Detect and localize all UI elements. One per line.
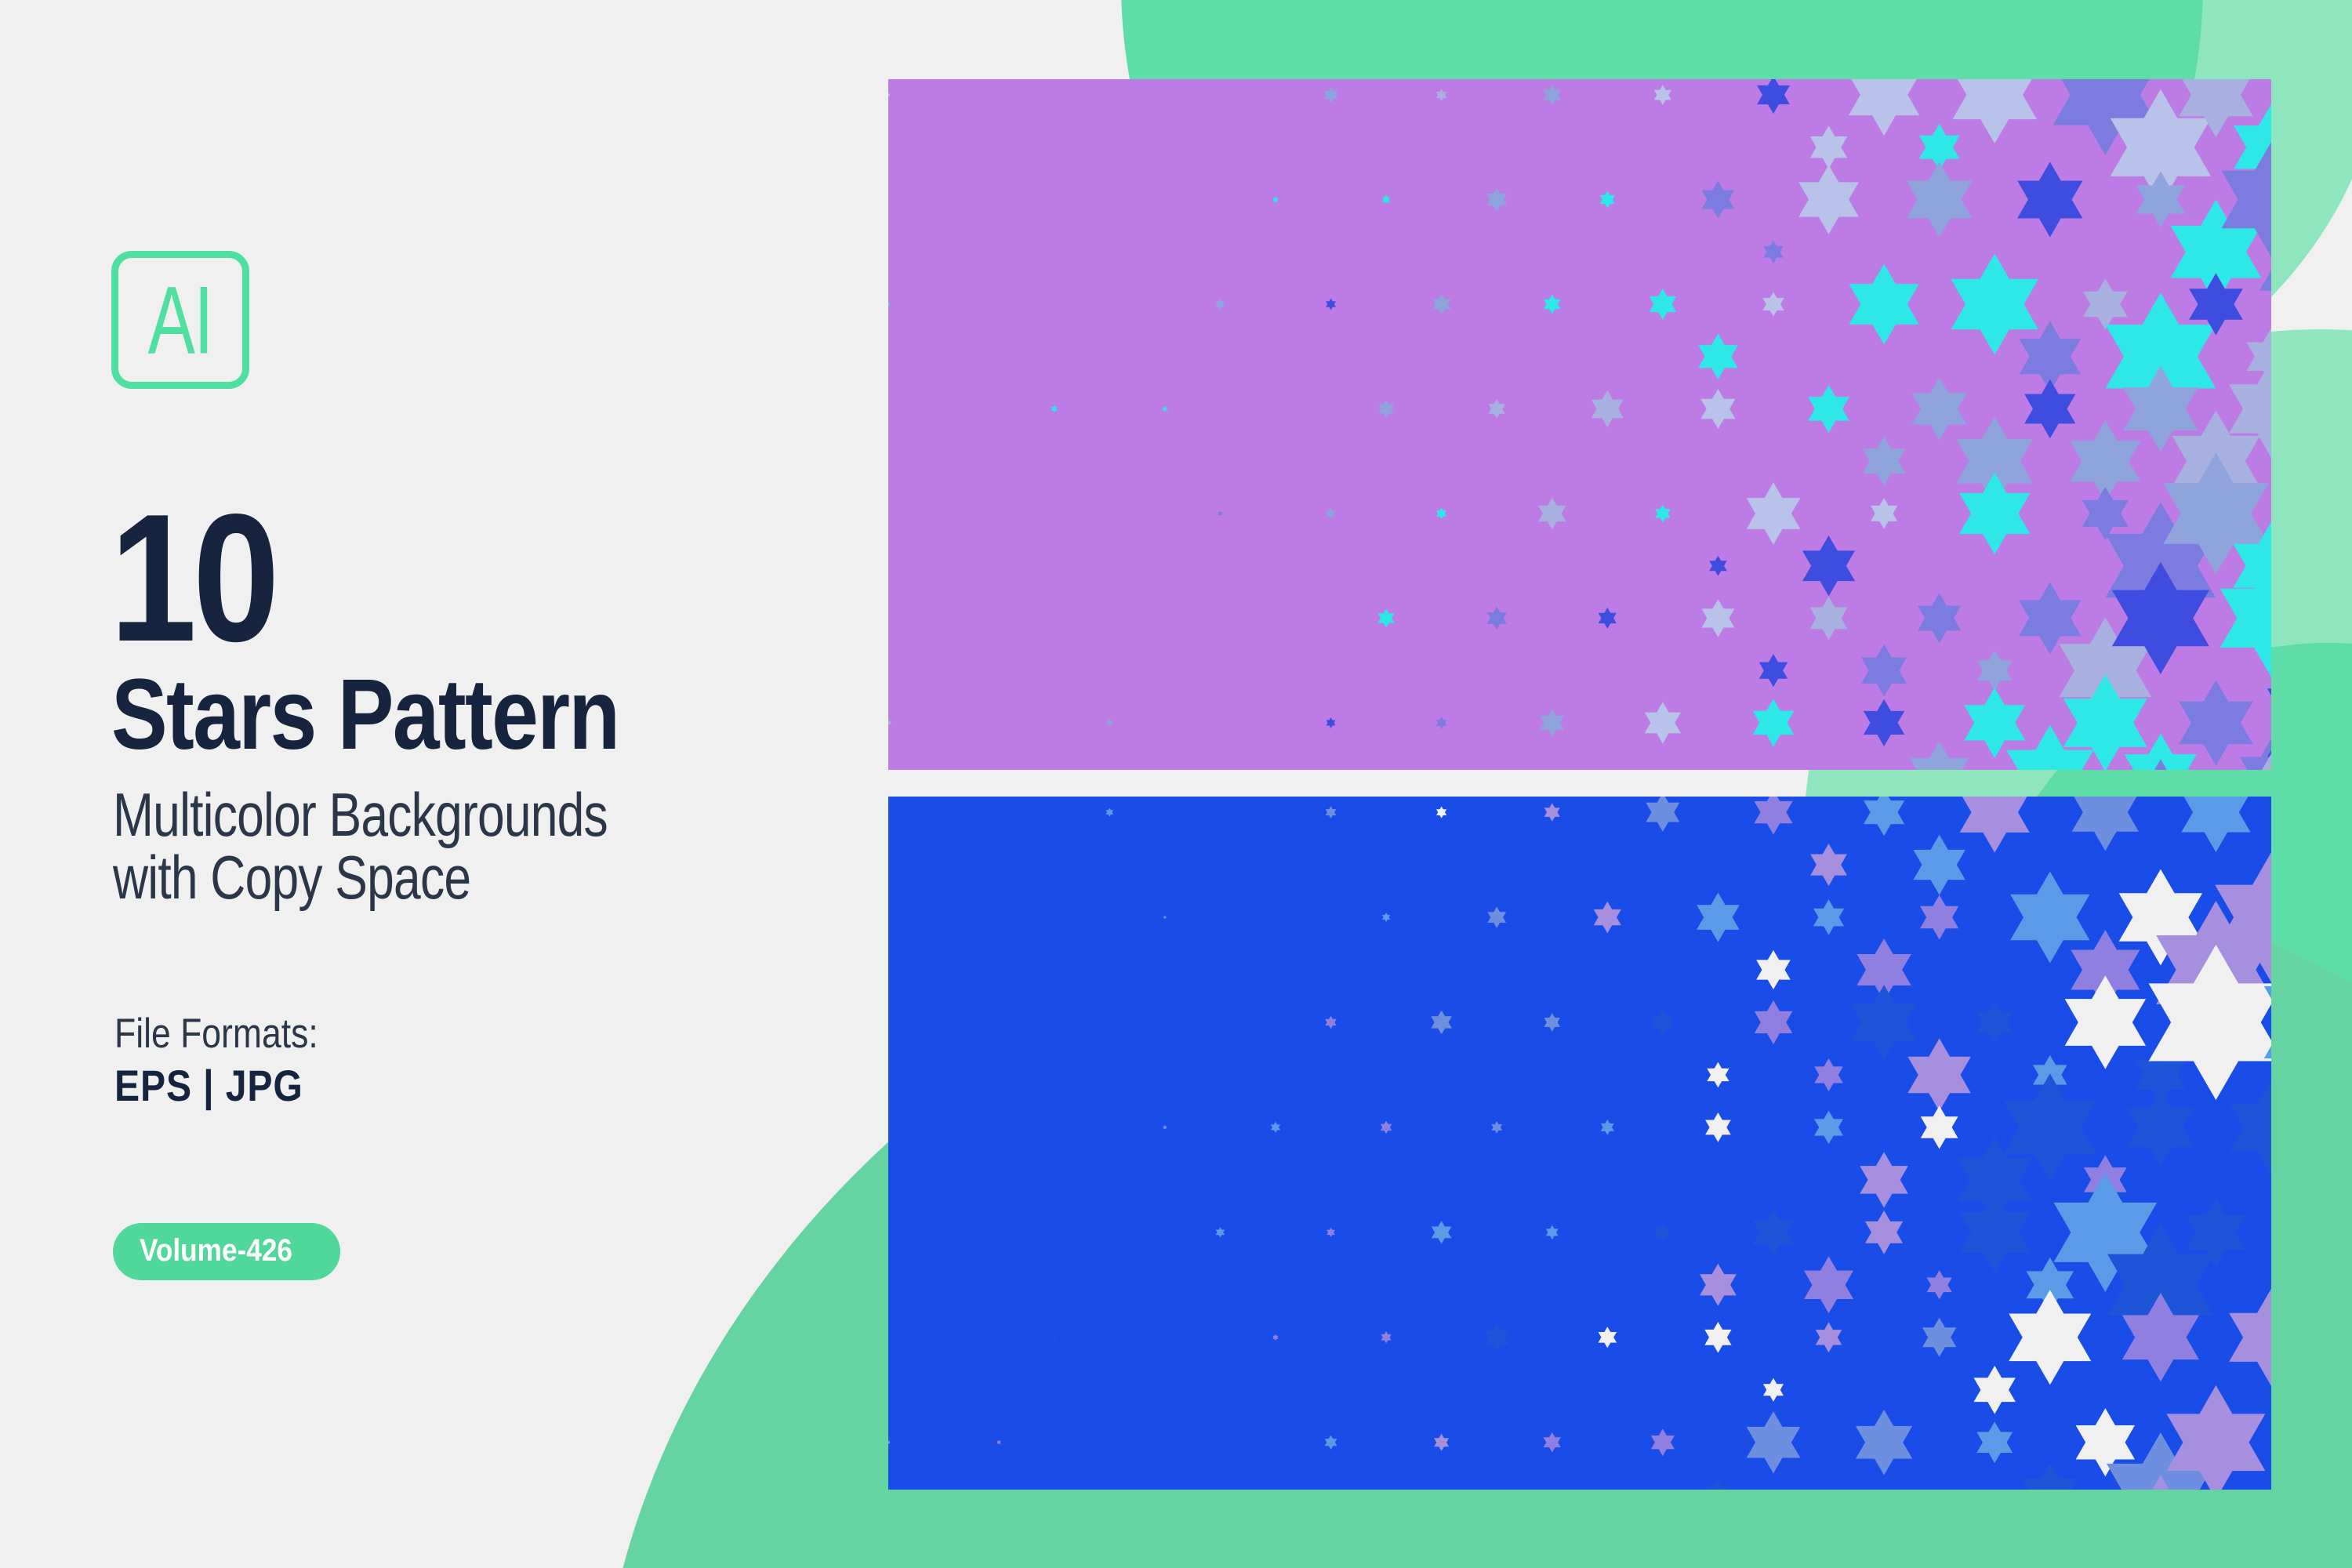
file-formats-value: EPS | JPG	[114, 1060, 303, 1111]
subtitle-line-1: Multicolor Backgrounds	[113, 784, 608, 845]
poster-canvas: AI 10 Stars Pattern Multicolor Backgroun…	[0, 0, 2352, 1568]
subtitle-line-2: with Copy Space	[113, 847, 470, 908]
blue-stars-preview	[888, 797, 2271, 1490]
blue-stars-pattern	[888, 797, 2271, 1490]
file-formats-label: File Formats:	[114, 1010, 318, 1058]
item-count: 10	[110, 499, 276, 659]
volume-badge-label: Volume-426	[140, 1233, 292, 1269]
ai-format-badge: AI	[111, 251, 249, 389]
ai-badge-label: AI	[148, 272, 212, 368]
purple-stars-preview	[888, 79, 2271, 770]
volume-badge: Volume-426	[113, 1223, 340, 1280]
page-title: Stars Pattern	[111, 665, 619, 765]
purple-stars-pattern	[888, 79, 2271, 770]
info-column: AI 10 Stars Pattern Multicolor Backgroun…	[0, 0, 878, 1568]
